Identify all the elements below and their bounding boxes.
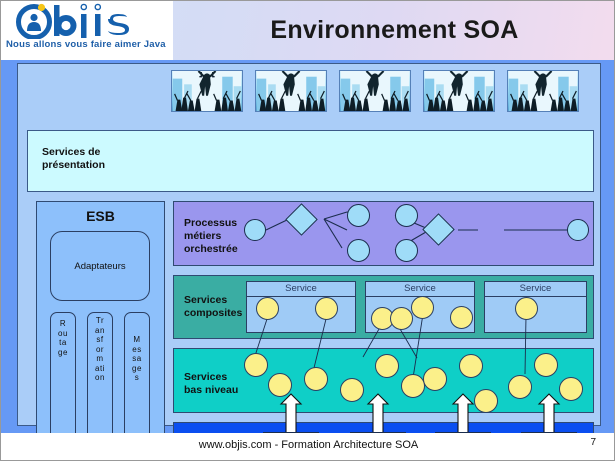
process-node-4 (347, 239, 370, 262)
lowlevel-services-label: Services bas niveau (184, 371, 238, 397)
crowd-image-4 (423, 70, 495, 112)
crowd-image-3 (339, 70, 411, 112)
lowlevel-dot-10 (508, 375, 532, 399)
slide: Nous allons vous faire aimer Java Enviro… (0, 0, 615, 461)
lowlevel-dot-9 (474, 389, 498, 413)
page-title: Environnement SOA (173, 1, 615, 60)
slide-footer: www.objis.com - Formation Architecture S… (1, 433, 615, 461)
process-node-5 (395, 239, 418, 262)
crowd-image-2 (255, 70, 327, 112)
composite-service-divider-3 (485, 296, 586, 297)
esb-column-transformation-label: Transformation (95, 316, 105, 383)
esb-panel: ESB Adaptateurs Routage Transformation M… (36, 201, 165, 461)
footer-text: www.objis.com - Formation Architecture S… (1, 439, 615, 451)
logo-area: Nous allons vous faire aimer Java (1, 1, 173, 60)
composite-dot-4 (390, 307, 413, 330)
composite-services-label: Services composites (184, 294, 242, 320)
composite-dot-2 (315, 297, 338, 320)
lowlevel-dot-12 (559, 377, 583, 401)
logo-tagline: Nous allons vous faire aimer Java (6, 39, 171, 50)
crowd-image-1 (171, 70, 243, 112)
lowlevel-dot-11 (534, 353, 558, 377)
objis-logo-icon (13, 3, 163, 39)
diagram-canvas: Services de présentation (1, 60, 615, 433)
business-process-label: Processus métiers orchestrée (184, 217, 238, 256)
business-process-band: Processus métiers orchestrée (173, 201, 594, 266)
lowlevel-dot-6 (401, 374, 425, 398)
lowlevel-dot-3 (304, 367, 328, 391)
process-node-end (567, 219, 589, 241)
lowlevel-dot-4 (340, 378, 364, 402)
composite-service-title-3: Service (485, 283, 586, 294)
esb-title: ESB (37, 208, 164, 224)
slide-header: Nous allons vous faire aimer Java Enviro… (1, 1, 615, 60)
composite-service-title-1: Service (247, 283, 355, 294)
composite-dot-6 (450, 306, 473, 329)
process-node-3 (395, 204, 418, 227)
esb-column-routage-label: Routage (58, 319, 68, 357)
crowd-image-5 (507, 70, 579, 112)
process-node-start (244, 219, 266, 241)
lowlevel-dot-1 (244, 353, 268, 377)
esb-adapters-box: Adaptateurs (50, 231, 150, 301)
lowlevel-dot-7 (423, 367, 447, 391)
composite-service-title-2: Service (366, 283, 474, 294)
process-node-2 (347, 204, 370, 227)
lowlevel-dot-5 (375, 354, 399, 378)
composite-dot-1 (256, 297, 279, 320)
presentation-services-label: Services de présentation (42, 146, 105, 172)
page-number: 7 (590, 437, 596, 448)
presentation-services-band: Services de présentation (27, 130, 594, 192)
lowlevel-dot-2 (268, 373, 292, 397)
esb-column-messages-label: Messages (132, 335, 142, 383)
composite-dot-5 (411, 296, 434, 319)
lowlevel-dot-8 (459, 354, 483, 378)
composite-dot-7 (515, 297, 538, 320)
